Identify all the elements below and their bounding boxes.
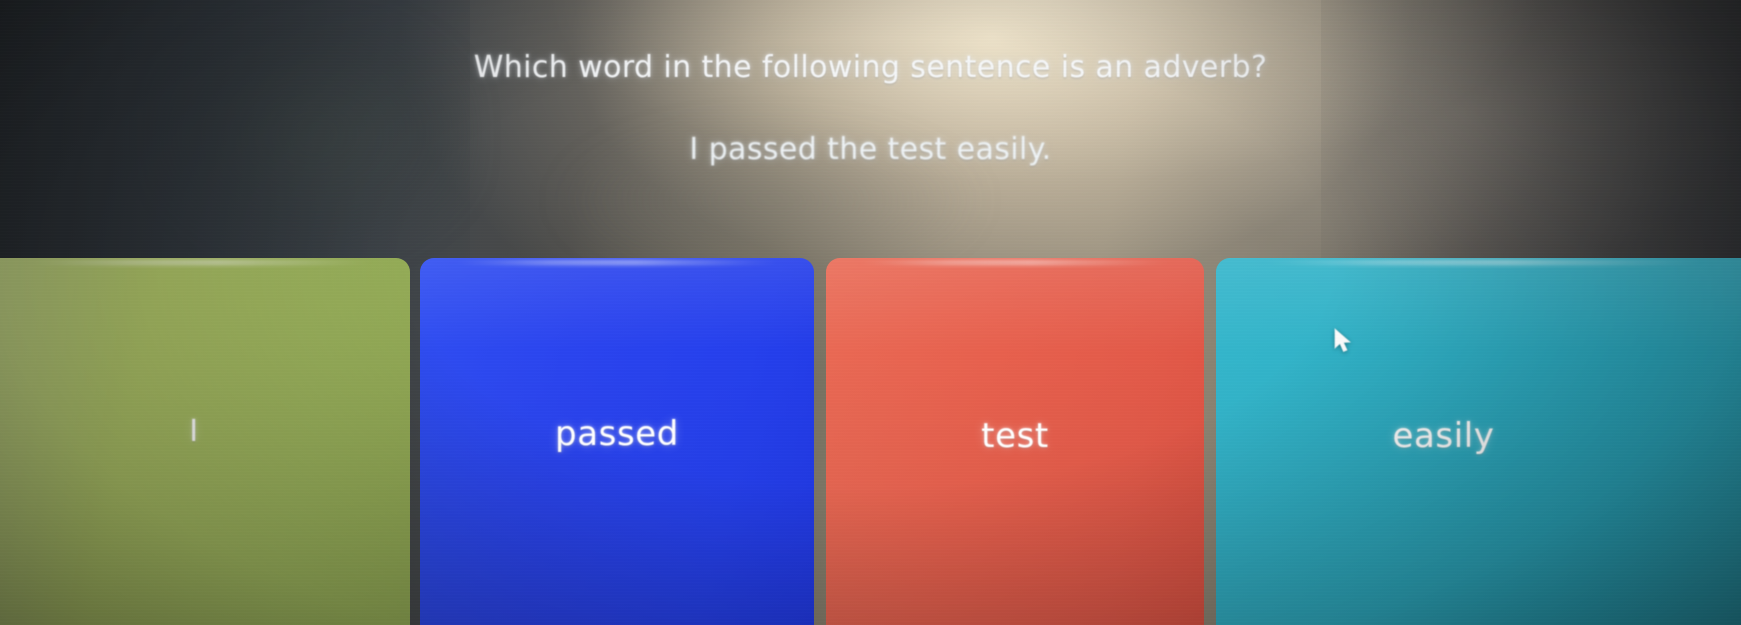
photo-scanlines — [0, 0, 1741, 625]
quiz-screen: Which word in the following sentence is … — [0, 0, 1741, 625]
